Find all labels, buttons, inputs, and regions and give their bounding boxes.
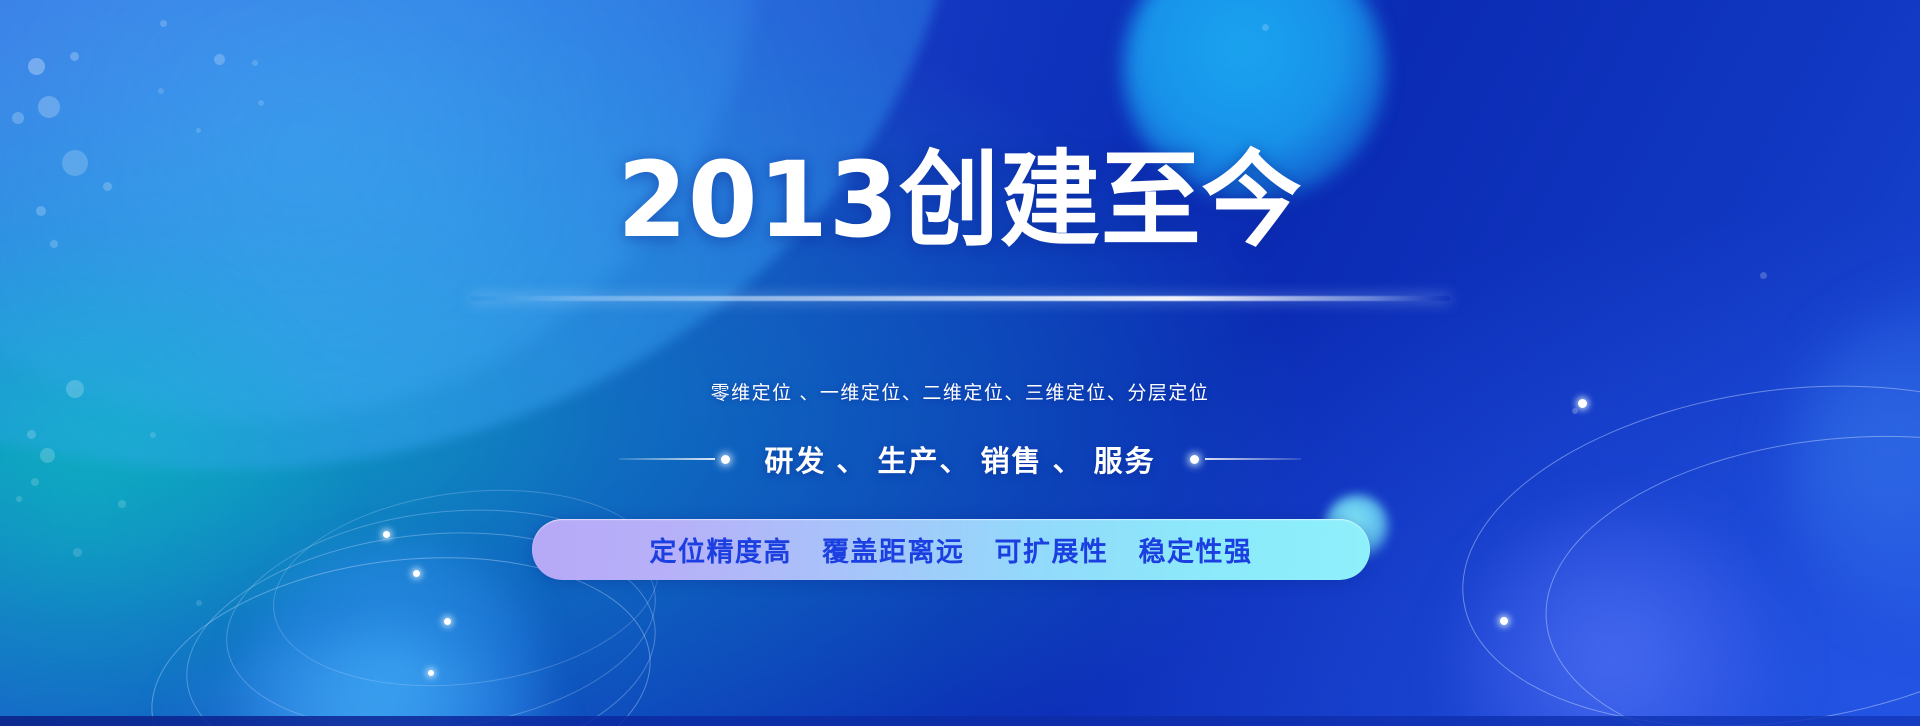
- decor-line-left-dot: [721, 455, 730, 464]
- banner-subtitle: 零维定位 、一维定位、二维定位、三维定位、分层定位: [0, 378, 1920, 405]
- hero-banner: 2013创建至今 零维定位 、一维定位、二维定位、三维定位、分层定位 研发 、 …: [0, 0, 1920, 726]
- services-text: 研发 、 生产、 销售 、 服务: [764, 438, 1155, 480]
- decor-line-left: [619, 455, 730, 464]
- decor-line-right: [1190, 455, 1301, 464]
- feature-item-4: 稳定性强: [1139, 530, 1253, 569]
- feature-item-3: 可扩展性: [995, 530, 1109, 569]
- feature-item-2: 覆盖距离远: [822, 530, 965, 569]
- decor-line-right-bar: [1205, 458, 1301, 460]
- feature-item-1: 定位精度高: [650, 530, 793, 569]
- features-pill-bar: 定位精度高 覆盖距离远 可扩展性 稳定性强: [532, 519, 1370, 580]
- banner-content: 2013创建至今 零维定位 、一维定位、二维定位、三维定位、分层定位 研发 、 …: [0, 0, 1920, 726]
- banner-title: 2013创建至今: [38, 148, 1881, 252]
- decor-line-right-dot: [1190, 455, 1199, 464]
- services-row: 研发 、 生产、 销售 、 服务: [0, 438, 1920, 480]
- decor-line-left-bar: [619, 458, 715, 460]
- title-underline-divider: [470, 296, 1450, 301]
